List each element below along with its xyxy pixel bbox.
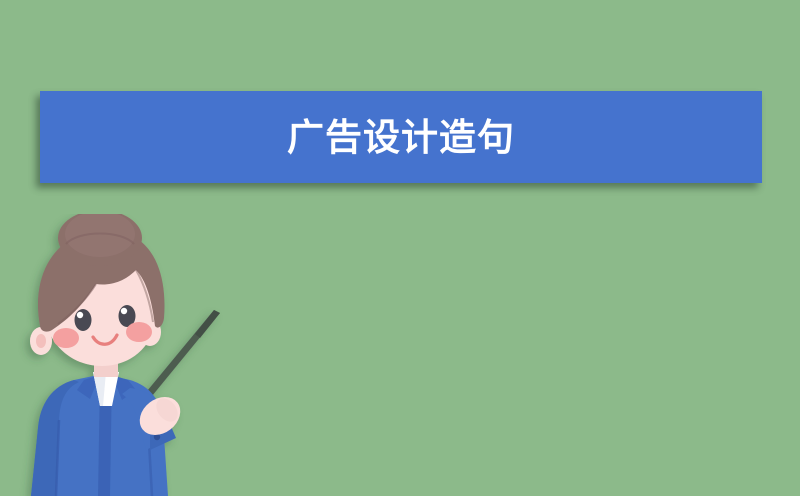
right-blush: [126, 322, 152, 342]
left-blush: [53, 328, 79, 348]
slide-canvas: 广告设计造句: [0, 0, 800, 496]
title-banner: 广告设计造句: [40, 91, 762, 183]
page-title: 广告设计造句: [287, 119, 515, 156]
teacher-illustration: [0, 214, 250, 496]
left-eye: [75, 309, 92, 331]
teacher-body: [30, 214, 188, 496]
